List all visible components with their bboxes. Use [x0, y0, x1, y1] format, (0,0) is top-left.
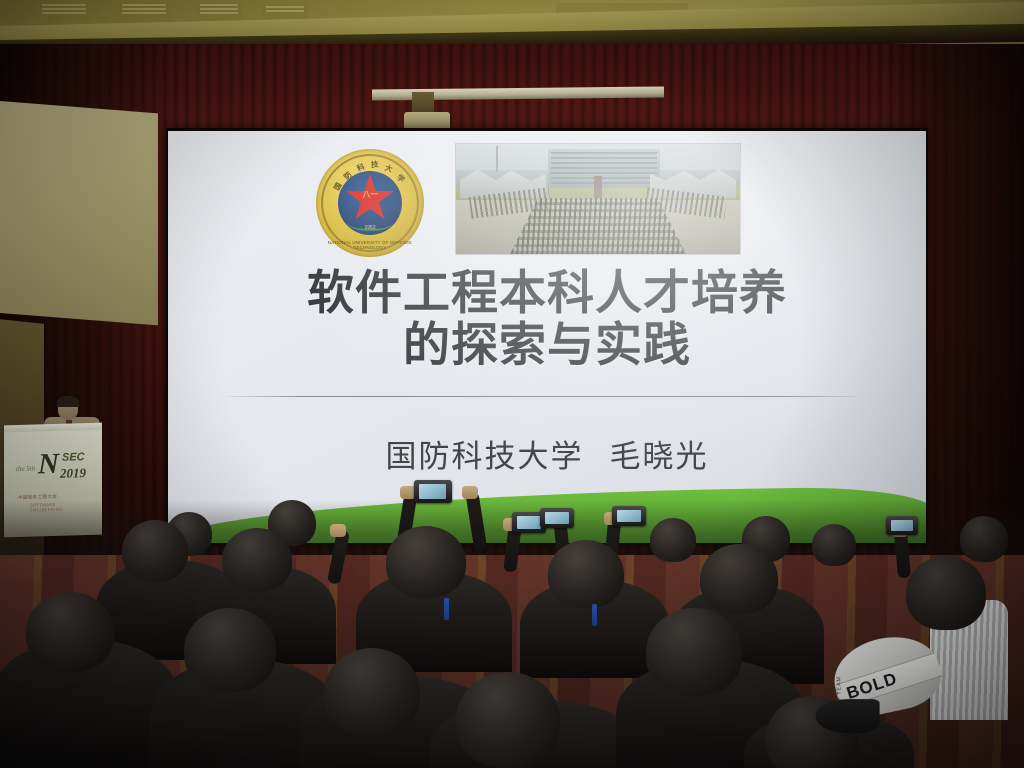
hand	[330, 524, 346, 537]
emblem-english-name: NATIONAL UNIVERSITY OF DEFENSE TECHNOLOG…	[316, 240, 424, 250]
camera-screen	[545, 512, 569, 524]
emblem-bayi-text: 八一	[359, 191, 381, 199]
nudt-emblem-icon: 国 防 科 技 大 学 八一 1953 NATIONAL UNIVERSITY …	[316, 149, 424, 257]
slide-divider	[228, 396, 856, 397]
ceiling-vent-icon	[196, 2, 242, 21]
slide-title: 软件工程本科人才培养 的探索与实践	[168, 268, 926, 372]
slide-subtitle-org: 国防科技大学	[386, 439, 584, 475]
secondary-projection-screen	[0, 99, 158, 326]
audience-head	[646, 608, 742, 696]
slide-title-line1: 软件工程本科人才培养	[307, 266, 787, 321]
audience-head	[812, 524, 856, 566]
camera-device	[612, 506, 646, 526]
camera-device	[886, 516, 918, 535]
camera-screen	[517, 516, 541, 529]
lanyard	[592, 604, 597, 626]
audience-head	[700, 544, 778, 614]
ceiling-vent-icon	[38, 2, 90, 21]
campus-parade-photo	[456, 144, 740, 254]
slide-subtitle: 国防科技大学毛晓光	[168, 431, 926, 476]
conference-hall-scene: 国 防 科 技 大 学 八一 1953 NATIONAL UNIVERSITY …	[0, 0, 1024, 768]
audience-head	[548, 540, 624, 608]
audience-head	[122, 520, 188, 582]
camera-screen	[891, 520, 913, 531]
audience-head	[456, 672, 560, 768]
nsec-sec-text: SEC	[62, 451, 85, 464]
photo-monument	[594, 176, 602, 198]
audience-head	[650, 518, 696, 562]
camera-screen	[617, 510, 641, 522]
audience-head	[960, 516, 1008, 562]
photo-flagpole	[496, 146, 498, 172]
slide-title-line2: 的探索与实践	[168, 320, 926, 372]
emblem-year: 1953	[316, 225, 424, 231]
presentation-slide: 国 防 科 技 大 学 八一 1953 NATIONAL UNIVERSITY …	[168, 131, 926, 543]
speaker-hair	[57, 396, 79, 407]
ceiling-vent-icon	[118, 2, 170, 21]
camera-screen	[419, 484, 446, 499]
nsec-n-mark: N	[38, 448, 58, 482]
audience-head	[222, 528, 292, 592]
cap-brim	[816, 699, 880, 733]
nsec-banner-logo: the 5th N SEC 2019 中国软件工程大会 SOFTWARE ENG…	[14, 449, 94, 485]
nsec-prefix: the 5th	[16, 464, 35, 473]
slide-subtitle-speaker: 毛晓光	[610, 439, 709, 475]
camera-device	[540, 508, 574, 528]
audience-head	[906, 556, 986, 630]
camera-device	[414, 480, 452, 503]
audience-head	[324, 648, 420, 736]
photo-troops-formation	[510, 198, 686, 254]
hand	[462, 486, 478, 499]
photo-main-building	[548, 149, 660, 189]
audience-head	[26, 592, 114, 672]
lanyard	[444, 598, 449, 620]
audience-head	[386, 526, 466, 598]
audience-head	[184, 608, 276, 692]
lectern-top	[4, 423, 102, 433]
nsec-year: 2019	[60, 465, 86, 482]
